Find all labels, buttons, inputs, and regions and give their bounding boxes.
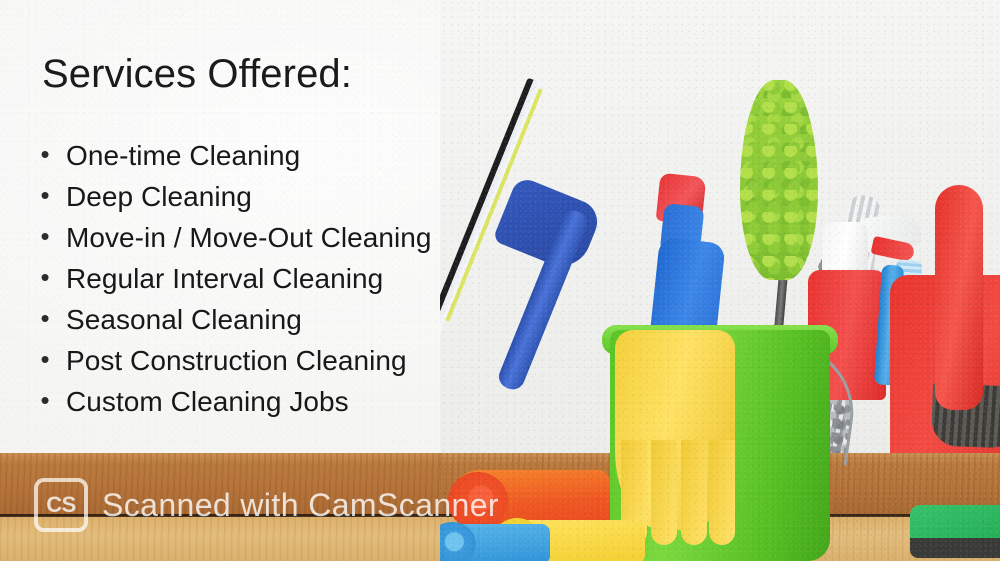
list-item: • One-time Cleaning [24, 140, 432, 181]
list-item: • Custom Cleaning Jobs [24, 386, 432, 427]
list-item: • Deep Cleaning [24, 181, 432, 222]
sponge-scour-pad-icon [910, 538, 1000, 558]
bullet-icon: • [24, 305, 66, 331]
list-item-label: Seasonal Cleaning [66, 304, 302, 336]
list-item: • Post Construction Cleaning [24, 345, 432, 386]
list-item-label: Custom Cleaning Jobs [66, 386, 349, 418]
slide-text-column: Services Offered: • One-time Cleaning • … [0, 0, 540, 460]
list-item: • Seasonal Cleaning [24, 304, 432, 345]
scanned-slide-page: Services Offered: • One-time Cleaning • … [0, 0, 1000, 561]
bullet-icon: • [24, 223, 66, 249]
bullet-icon: • [24, 182, 66, 208]
bullet-icon: • [24, 387, 66, 413]
list-item: • Move-in / Move-Out Cleaning [24, 222, 432, 263]
page-title: Services Offered: [42, 52, 352, 97]
list-item: • Regular Interval Cleaning [24, 263, 432, 304]
bullet-icon: • [24, 141, 66, 167]
list-item-label: One-time Cleaning [66, 140, 300, 172]
list-item-label: Post Construction Cleaning [66, 345, 407, 377]
dustpan-brush-handle-icon [935, 185, 983, 410]
orange-towel-roll-icon [448, 472, 508, 530]
list-item-label: Move-in / Move-Out Cleaning [66, 222, 432, 254]
bullet-icon: • [24, 346, 66, 372]
list-item-label: Regular Interval Cleaning [66, 263, 383, 295]
feather-duster-icon [740, 80, 818, 280]
yellow-glove-icon [615, 330, 735, 530]
services-list: • One-time Cleaning • Deep Cleaning • Mo… [24, 140, 432, 427]
bullet-icon: • [24, 264, 66, 290]
wood-counter-dark-band-left [0, 453, 440, 516]
wood-counter-light-band-left [0, 517, 440, 561]
glove-finger [681, 440, 707, 545]
glove-finger [651, 440, 677, 545]
glove-finger [709, 440, 735, 545]
list-item-label: Deep Cleaning [66, 181, 252, 213]
